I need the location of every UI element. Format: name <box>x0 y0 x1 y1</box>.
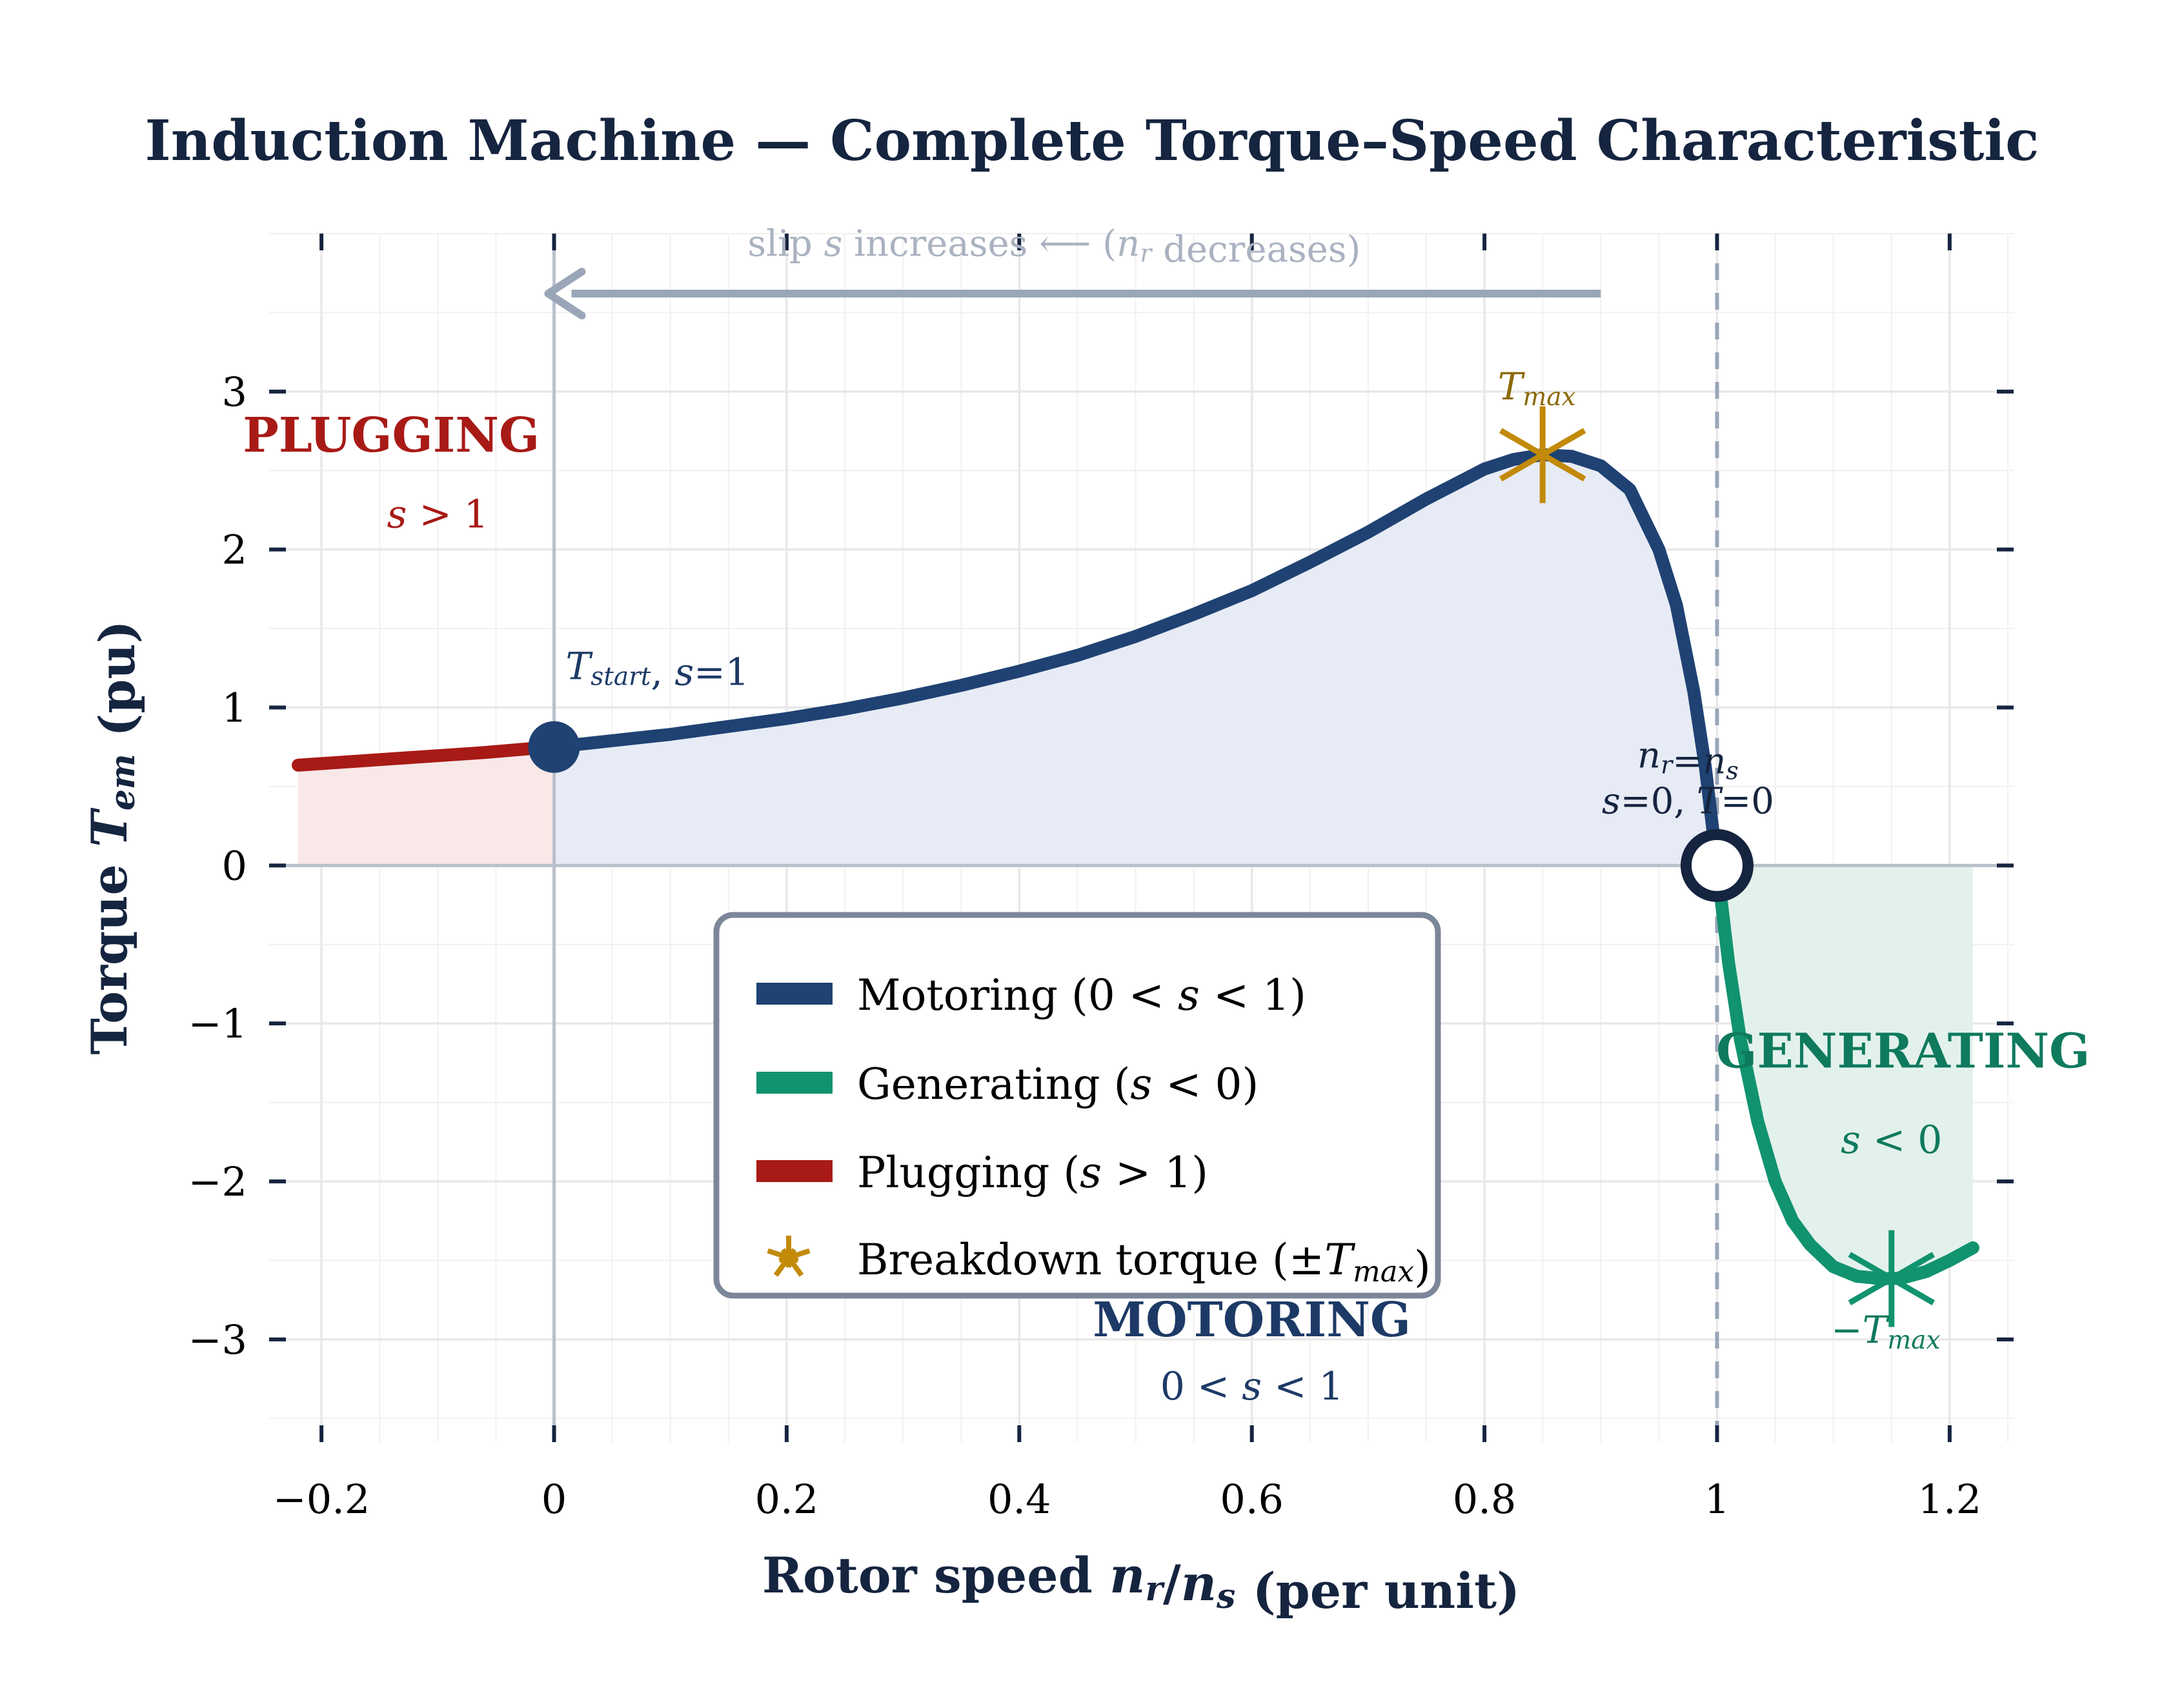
page-title: Induction Machine — Complete Torque–Spee… <box>145 108 2039 174</box>
slip-direction-note: slip s increases ⟵ (nr decreases) <box>747 223 1360 270</box>
y-tick-label: −3 <box>188 1316 247 1363</box>
chart-legend[interactable]: Motoring (0 < s < 1)Generating (s < 0)Pl… <box>716 915 1438 1296</box>
y-tick-label: −2 <box>188 1158 247 1205</box>
generating-region-label: GENERATING <box>1716 1024 2090 1079</box>
motoring-slip-label: 0 < s < 1 <box>1160 1364 1344 1409</box>
x-tick-label: −0.2 <box>273 1476 370 1523</box>
legend-label-breakdown: Breakdown torque (±Tmax) <box>857 1235 1431 1292</box>
y-tick-label: −1 <box>188 1000 247 1047</box>
legend-label-plugging: Plugging (s > 1) <box>857 1148 1208 1198</box>
x-tick-label: 0.8 <box>1453 1476 1517 1523</box>
x-tick-label: 0.4 <box>987 1476 1051 1523</box>
y-axis-label: Torque Tem (pu) <box>81 620 146 1054</box>
legend-swatch-motoring <box>756 983 833 1005</box>
y-tick-label: 1 <box>222 685 247 732</box>
x-tick-label: 1.2 <box>1918 1476 1982 1523</box>
x-tick-label: 0 <box>541 1476 567 1523</box>
legend-swatch-generating <box>756 1072 833 1094</box>
torque-speed-chart: Induction Machine — Complete Torque–Spee… <box>0 0 2184 1706</box>
legend-label-motoring: Motoring (0 < s < 1) <box>857 970 1306 1020</box>
x-tick-label: 0.6 <box>1220 1476 1284 1523</box>
legend-label-generating: Generating (s < 0) <box>857 1059 1259 1109</box>
motoring-region-label: MOTORING <box>1093 1292 1411 1348</box>
y-tick-label: 0 <box>222 842 247 889</box>
t-start-marker <box>528 721 580 773</box>
figure-canvas: Induction Machine — Complete Torque–Spee… <box>0 0 2184 1706</box>
plugging-region-label: PLUGGING <box>243 408 540 463</box>
synchronous-point-marker <box>1686 834 1748 896</box>
legend-swatch-plugging <box>756 1160 833 1182</box>
legend-item-breakdown[interactable]: Breakdown torque (±Tmax) <box>767 1235 1431 1292</box>
sync-torque-annotation: s=0, T=0 <box>1602 781 1774 823</box>
y-tick-label: 2 <box>222 527 247 574</box>
x-tick-label: 1 <box>1704 1476 1730 1523</box>
generating-slip-label: s < 0 <box>1841 1118 1942 1163</box>
x-tick-label: 0.2 <box>755 1476 819 1523</box>
plugging-slip-label: s > 1 <box>387 492 489 537</box>
